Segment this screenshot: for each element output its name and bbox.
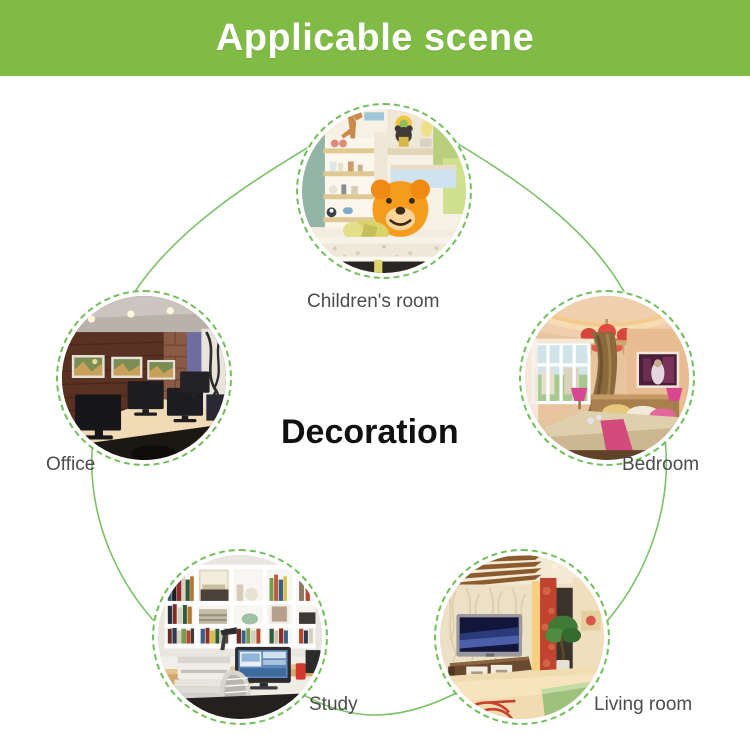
scene-diagram: .arc{fill:none;stroke:#7ac267;stroke-wid… [0,76,750,750]
label-children-room: Children's room [307,291,439,313]
node-children-room[interactable] [296,103,472,279]
photo-children-room [302,109,466,273]
center-label-decoration: Decoration [281,413,459,452]
node-bedroom[interactable] [519,290,695,466]
label-office: Office [46,454,95,476]
page-title: Applicable scene [216,17,534,60]
node-office[interactable] [56,290,232,466]
label-bedroom: Bedroom [622,454,699,476]
label-living-room: Living room [594,694,692,716]
photo-bedroom [525,296,689,460]
photo-office [62,296,226,460]
photo-living-room [440,555,604,719]
page-root: Applicable scene .arc{fill:none;stroke:#… [0,0,750,750]
photo-study [158,555,322,719]
page-header: Applicable scene [0,0,750,76]
label-study: Study [309,694,358,716]
node-study[interactable] [152,549,328,725]
node-living-room[interactable] [434,549,610,725]
